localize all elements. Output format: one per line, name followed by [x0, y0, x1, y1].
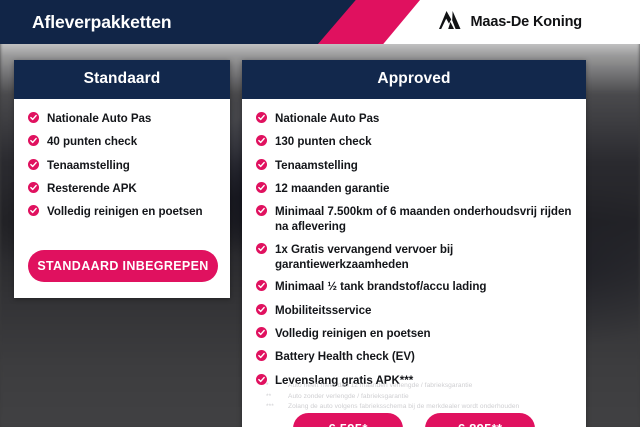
package-card-standaard: Standaard Nationale Auto Pas 40 punten c…	[14, 60, 230, 298]
brand-name: Maas-De Koning	[471, 14, 583, 30]
list-item: Nationale Auto Pas	[256, 111, 574, 127]
list-item: 1x Gratis vervangend vervoer bij garanti…	[256, 242, 574, 273]
list-item: Tenaamstelling	[256, 158, 574, 174]
footnote-text: Zolang de auto volgens fabrieksschema bi…	[288, 402, 596, 413]
check-circle-icon	[28, 112, 39, 127]
page-header: Afleverpakketten Maas-De Koning	[0, 0, 640, 44]
footnote-marker: **	[266, 392, 282, 403]
card-title-approved: Approved	[242, 60, 586, 99]
list-item: Battery Health check (EV)	[256, 349, 574, 365]
check-circle-icon	[28, 182, 39, 197]
feature-label: Minimaal 7.500km of 6 maanden onderhouds…	[275, 204, 574, 235]
check-circle-icon	[256, 182, 267, 197]
feature-label: 130 punten check	[275, 134, 372, 149]
check-circle-icon	[256, 280, 267, 295]
list-item: Mobiliteitsservice	[256, 303, 574, 319]
feature-list-approved: Nationale Auto Pas 130 punten check Tena…	[256, 111, 574, 389]
footnote-single-asterisk: * Auto heeft meer dan 12 maanden verleng…	[266, 381, 596, 392]
standaard-inbegrepen-button[interactable]: STANDAARD INBEGREPEN	[28, 250, 218, 282]
brand-lockup: Maas-De Koning	[438, 0, 583, 44]
feature-label: Mobiliteitsservice	[275, 303, 371, 318]
list-item: 130 punten check	[256, 134, 574, 150]
card-title-standaard: Standaard	[14, 60, 230, 99]
cta-container-standaard: STANDAARD INBEGREPEN	[14, 232, 230, 298]
check-circle-icon	[28, 159, 39, 174]
feature-label: Volledig reinigen en poetsen	[47, 204, 203, 219]
feature-label: Resterende APK	[47, 181, 137, 196]
footnote-triple-asterisk: *** Zolang de auto volgens fabrieksschem…	[266, 402, 596, 413]
list-item: Volledig reinigen en poetsen	[256, 326, 574, 342]
check-circle-icon	[256, 327, 267, 342]
page-title: Afleverpakketten	[32, 0, 171, 44]
feature-list-standaard: Nationale Auto Pas 40 punten check Tenaa…	[28, 111, 218, 220]
check-circle-icon	[256, 243, 267, 258]
check-circle-icon	[256, 159, 267, 174]
check-circle-icon	[256, 135, 267, 150]
footnotes: * Auto heeft meer dan 12 maanden verleng…	[266, 381, 596, 413]
list-item: 40 punten check	[28, 134, 218, 150]
list-item: Resterende APK	[28, 181, 218, 197]
feature-label: 40 punten check	[47, 134, 137, 149]
check-circle-icon	[256, 304, 267, 319]
feature-label: 12 maanden garantie	[275, 181, 389, 196]
list-item: Minimaal ½ tank brandstof/accu lading	[256, 279, 574, 295]
check-circle-icon	[28, 135, 39, 150]
footnote-text: Auto heeft meer dan 12 maanden verlengde…	[288, 381, 596, 392]
footnote-marker: *	[266, 381, 282, 392]
feature-label: Tenaamstelling	[47, 158, 130, 173]
list-item: Volledig reinigen en poetsen	[28, 204, 218, 220]
list-item: Minimaal 7.500km of 6 maanden onderhouds…	[256, 204, 574, 235]
check-circle-icon	[256, 205, 267, 220]
feature-label: Minimaal ½ tank brandstof/accu lading	[275, 279, 486, 294]
price-button-895[interactable]: € 895**	[425, 413, 535, 427]
maas-de-koning-m-logo-icon	[438, 10, 464, 35]
feature-label: Nationale Auto Pas	[275, 111, 379, 126]
check-circle-icon	[28, 205, 39, 220]
card-body-approved: Nationale Auto Pas 130 punten check Tena…	[242, 99, 586, 401]
feature-label: Nationale Auto Pas	[47, 111, 151, 126]
check-circle-icon	[256, 350, 267, 365]
footnote-marker: ***	[266, 402, 282, 413]
feature-label: Battery Health check (EV)	[275, 349, 415, 364]
footnote-text: Auto zonder verlengde / fabrieksgarantie	[288, 392, 596, 403]
card-body-standaard: Nationale Auto Pas 40 punten check Tenaa…	[14, 99, 230, 232]
list-item: Tenaamstelling	[28, 158, 218, 174]
feature-label: Tenaamstelling	[275, 158, 358, 173]
feature-label: 1x Gratis vervangend vervoer bij garanti…	[275, 242, 574, 273]
check-circle-icon	[256, 112, 267, 127]
list-item: 12 maanden garantie	[256, 181, 574, 197]
list-item: Nationale Auto Pas	[28, 111, 218, 127]
package-card-approved: Approved Nationale Auto Pas 130 punten c…	[242, 60, 586, 427]
feature-label: Volledig reinigen en poetsen	[275, 326, 431, 341]
footnote-double-asterisk: ** Auto zonder verlengde / fabrieksgaran…	[266, 392, 596, 403]
price-button-595[interactable]: € 595*	[293, 413, 403, 427]
